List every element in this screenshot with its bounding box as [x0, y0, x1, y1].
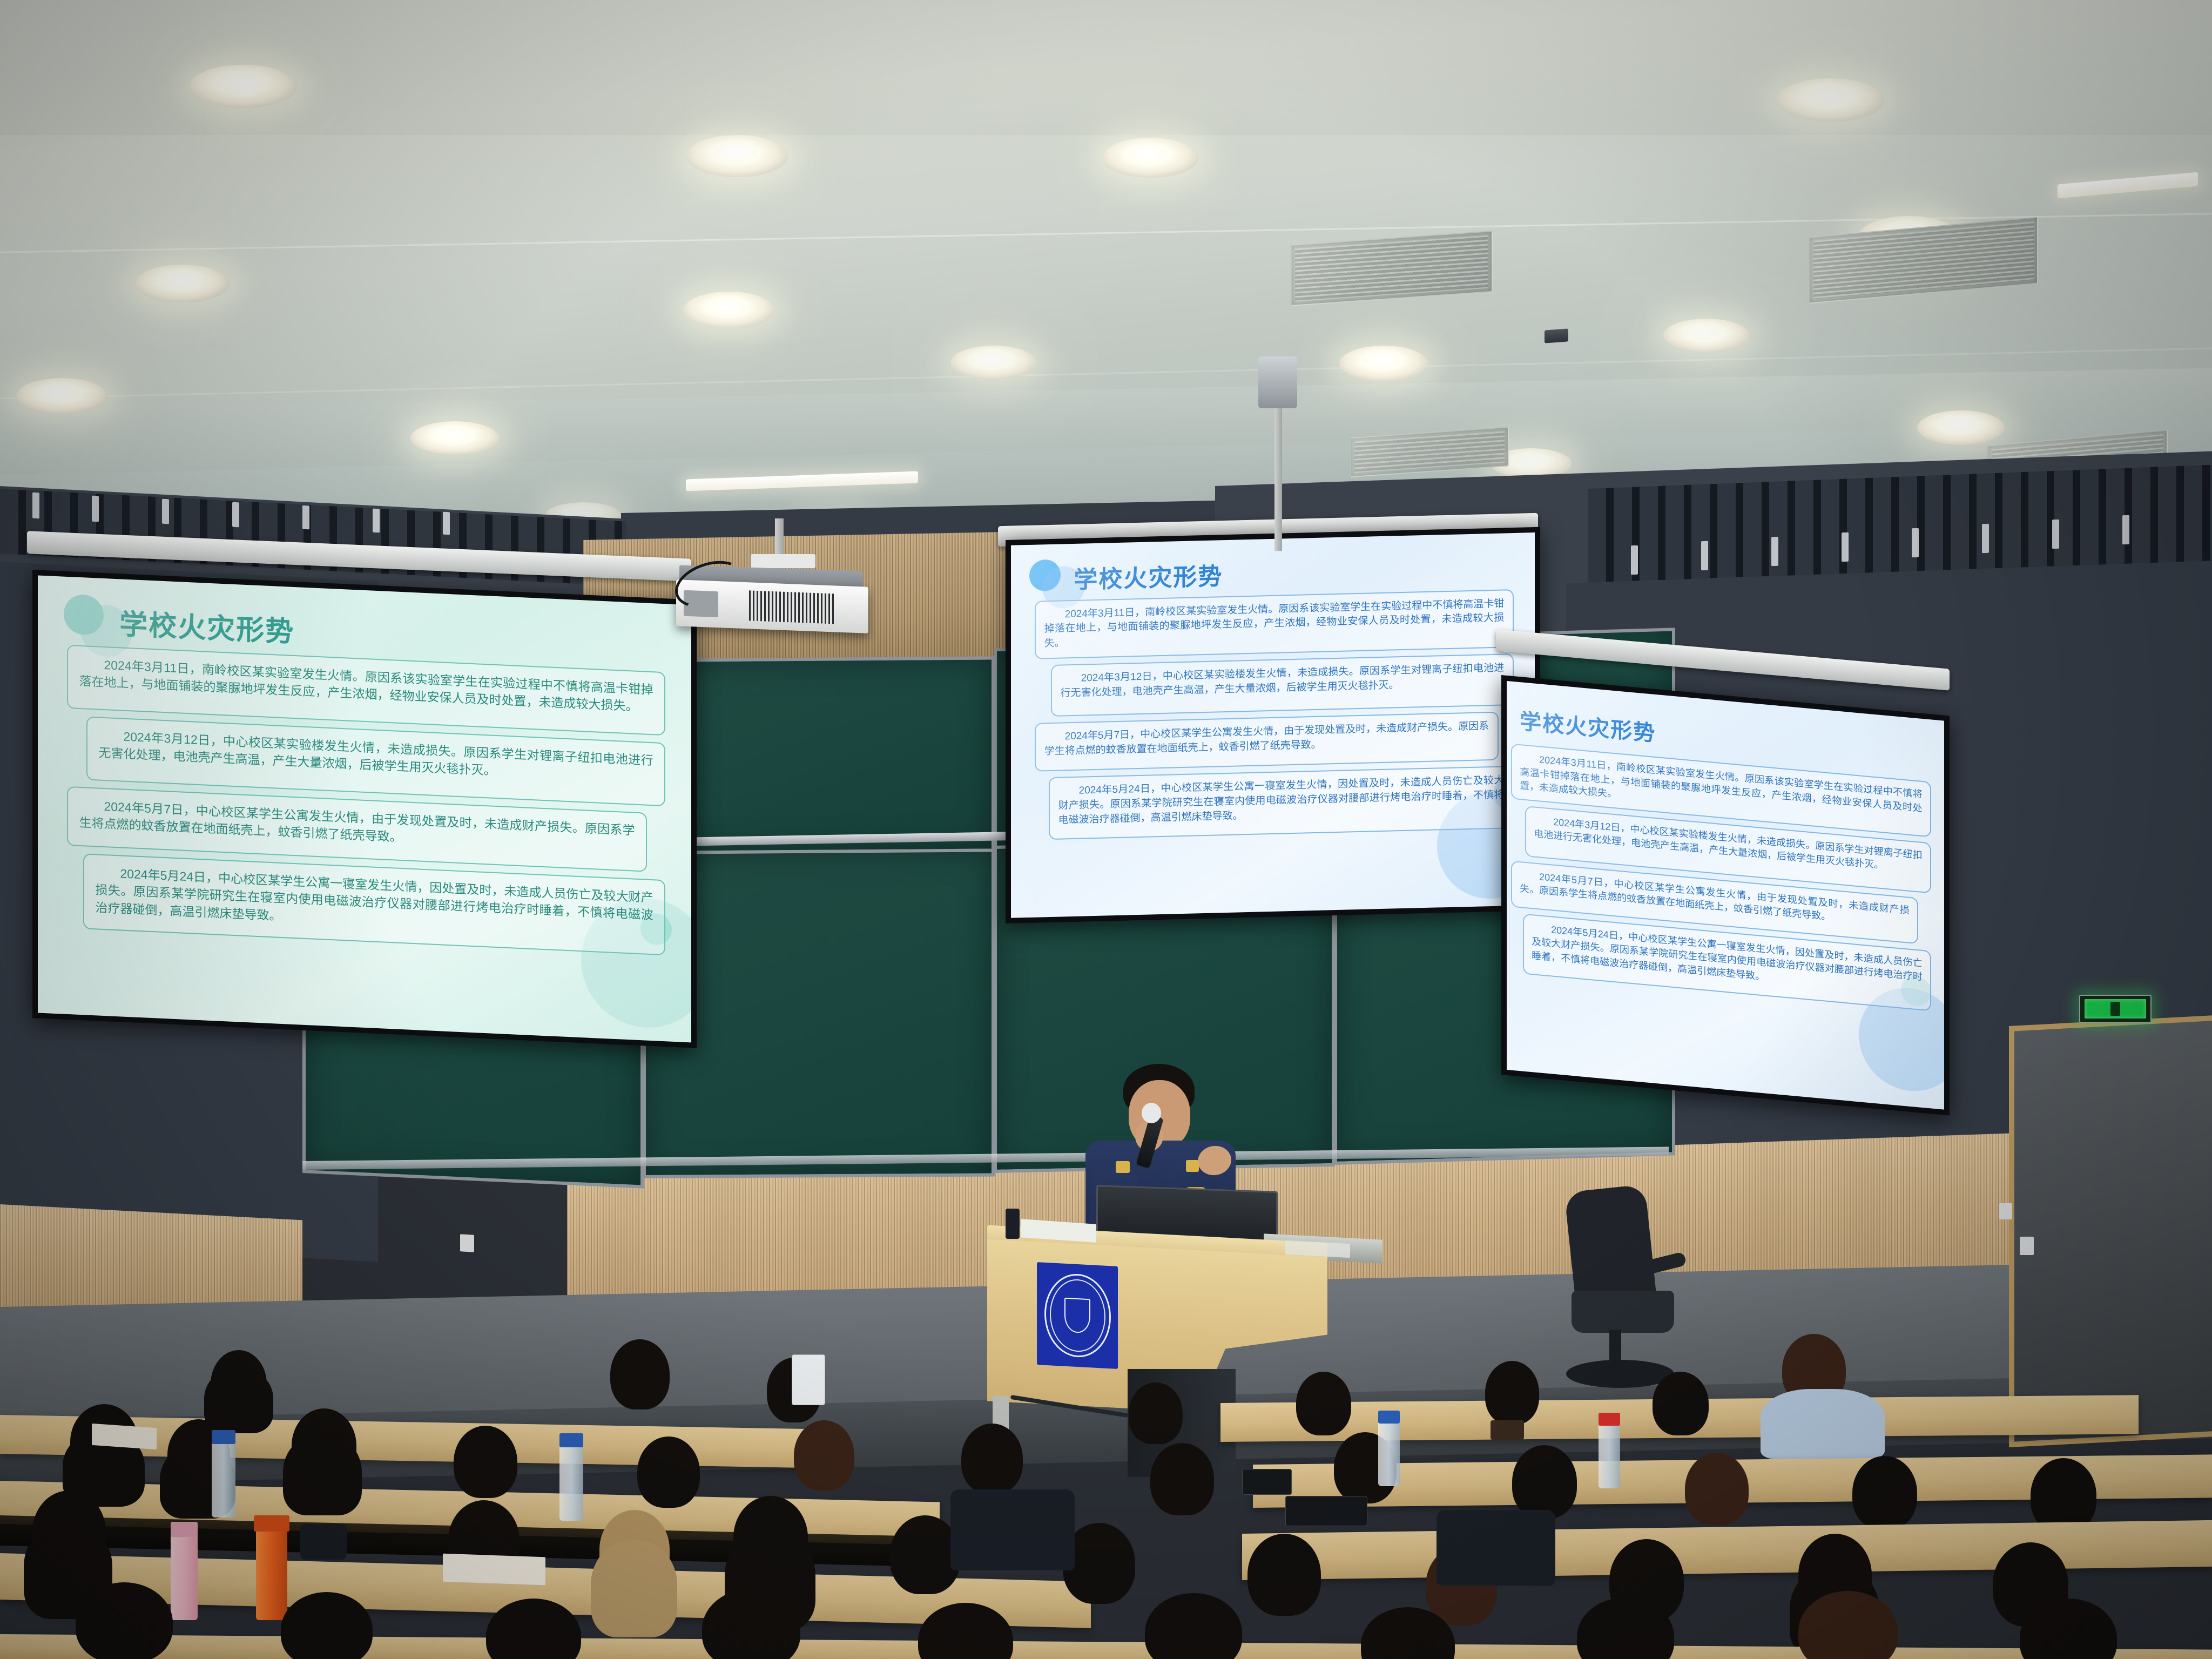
- projector-mount-bracket: [751, 554, 815, 568]
- ceiling-downlight: [135, 265, 230, 302]
- ceiling-downlight: [189, 65, 297, 108]
- bottle-cap: [559, 1433, 583, 1447]
- slat-clip: [1631, 545, 1638, 575]
- ceiling-downlight: [686, 135, 788, 177]
- slide-paragraph-text: 2024年5月7日，中心校区某学生公寓发生火情，由于发现处置及时，未造成财产损失…: [1044, 720, 1489, 760]
- water-bottle[interactable]: [1599, 1418, 1620, 1488]
- audience-head: [890, 1515, 960, 1594]
- bottle-cap: [171, 1522, 198, 1537]
- screen-border: 学校火灾形势 2024年3月11日，南岭校区某实验室发生火情。原因系该实验室学生…: [1501, 675, 1950, 1116]
- exit-sign-face: [2085, 999, 2146, 1019]
- notebook-on-desk: [443, 1554, 545, 1586]
- exit-door[interactable]: [2009, 1015, 2212, 1447]
- slide-paragraph-box: 2024年5月24日，中心校区某学生公寓一寝室发生火情，因处置及时，未造成人员伤…: [1049, 766, 1514, 840]
- slide-right: 学校火灾形势 2024年3月11日，南岭校区某实验室发生火情。原因系该实验室学生…: [1507, 681, 1944, 1110]
- smartphone-raised[interactable]: [792, 1354, 825, 1405]
- slat-clip: [1912, 528, 1919, 557]
- slide-paragraph-text: 2024年3月11日，南岭校区某实验室发生火情。原因系该实验室学生在实验过程中不…: [79, 655, 653, 716]
- pink-water-bottle[interactable]: [171, 1528, 198, 1620]
- bottle-cap: [1599, 1413, 1620, 1426]
- slat-clip: [302, 505, 309, 530]
- slide-paragraph-text: 2024年3月11日，南岭校区某实验室发生火情。原因系该实验室学生在实验过程中不…: [1044, 597, 1505, 652]
- presenter-shoulder-insignia: [1186, 1160, 1199, 1172]
- notebook-on-desk: [92, 1424, 157, 1449]
- screen-border: 学校火灾形势 2024年3月11日，南岭校区某实验室发生火情。原因系该实验室学生…: [1006, 527, 1540, 923]
- slat-clip: [1701, 541, 1708, 570]
- orange-water-bottle[interactable]: [256, 1523, 287, 1620]
- ceiling-downlight: [1917, 410, 2005, 445]
- audience-head: [1247, 1534, 1321, 1616]
- audience-head: [637, 1437, 700, 1508]
- slide-title: 学校火灾形势: [119, 601, 294, 650]
- ceiling-downlight: [683, 292, 775, 328]
- slat-clip: [373, 509, 380, 533]
- slat-clip: [1771, 537, 1778, 566]
- audience-hair: [283, 1434, 362, 1515]
- bottle-cap: [1378, 1411, 1400, 1424]
- slide-paragraph-box: 2024年3月11日，南岭校区某实验室发生火情。原因系该实验室学生在实验过程中不…: [1035, 589, 1514, 659]
- backpack: [300, 1524, 347, 1560]
- ceiling-downlight: [1102, 138, 1199, 178]
- smartphone[interactable]: [1242, 1469, 1292, 1495]
- slat-clip: [92, 496, 99, 522]
- ceiling-downlight: [1339, 346, 1428, 381]
- audience-head: [1485, 1361, 1539, 1425]
- lecture-hall-photo: 学校火灾形势 2024年3月11日，南岭校区某实验室发生火情。原因系该实验室学生…: [0, 0, 2212, 1659]
- seal-shield-icon: [1064, 1298, 1090, 1333]
- ceiling-downlight: [1777, 78, 1885, 122]
- university-seal: [1044, 1272, 1111, 1359]
- pencil-case: [1491, 1420, 1524, 1440]
- screen-border: 学校火灾形势 2024年3月11日，南岭校区某实验室发生火情。原因系该实验室学生…: [32, 570, 697, 1048]
- office-chair[interactable]: [1555, 1188, 1717, 1377]
- audience-head: [1685, 1453, 1749, 1525]
- wall-switch-plate[interactable]: [460, 1234, 474, 1252]
- wall-switch-plate[interactable]: [2020, 1237, 2034, 1255]
- audience-head: [76, 1582, 173, 1659]
- audience-head: [1145, 1593, 1242, 1659]
- audience-head: [1512, 1445, 1577, 1519]
- slide-paragraph-text: 2024年5月7日，中心校区某学生公寓发生火情，由于发现处置及时，未造成财产损失…: [79, 796, 635, 857]
- slat-clip: [1842, 532, 1849, 562]
- presenter-shoulder-insignia: [1116, 1161, 1130, 1173]
- slide-paragraph-text: 2024年5月24日，中心校区某学生公寓一寝室发生火情，因处置及时，未造成人员伤…: [1058, 774, 1505, 828]
- audience-head: [1296, 1372, 1351, 1435]
- bottle-cap: [254, 1515, 289, 1532]
- audience-head: [961, 1424, 1023, 1494]
- slat-clip: [443, 512, 450, 535]
- backpack: [1437, 1510, 1555, 1586]
- tablet[interactable]: [1285, 1496, 1367, 1526]
- slat-clip: [2122, 515, 2129, 544]
- audience-head: [1653, 1372, 1709, 1435]
- audience-head: [1129, 1382, 1183, 1444]
- camera-housing: [1258, 356, 1297, 408]
- ceiling-downlight: [410, 421, 500, 455]
- ceiling-speaker: [1545, 328, 1568, 343]
- ceiling-band-upper: [0, 0, 2212, 135]
- projection-screen-left: 学校火灾形势 2024年3月11日，南岭校区某实验室发生火情。原因系该实验室学生…: [32, 570, 686, 1007]
- university-seal-plaque[interactable]: [1037, 1262, 1118, 1369]
- audience-shoulders: [1761, 1389, 1885, 1459]
- audience-head: [454, 1426, 517, 1498]
- wall-outlet-plate[interactable]: [1999, 1203, 2012, 1219]
- slide-paragraph-text: 2024年3月12日，中心校区某实验楼发生火情，未造成损失。原因系学生对锂离子纽…: [1061, 662, 1505, 702]
- slat-clip: [232, 502, 239, 528]
- audience-head: [794, 1420, 854, 1491]
- water-bottle[interactable]: [559, 1440, 583, 1521]
- water-bottle[interactable]: [212, 1437, 235, 1518]
- backpack: [950, 1489, 1075, 1570]
- chair-seat: [1572, 1291, 1674, 1333]
- slide-title: 学校火灾形势: [1074, 557, 1223, 595]
- projection-screen-center: 学校火灾形势 2024年3月11日，南岭校区某实验室发生火情。原因系该实验室学生…: [1006, 540, 1529, 913]
- audience-head: [1852, 1456, 1917, 1529]
- ceiling-downlight: [1663, 319, 1750, 352]
- slide-left: 学校火灾形势 2024年3月11日，南岭校区某实验室发生火情。原因系该实验室学生…: [38, 575, 691, 1042]
- slide-paragraph-text: 2024年3月12日，中心校区某实验楼发生火情，未造成损失。原因系学生对锂离子纽…: [98, 726, 653, 787]
- slat-clip: [1982, 524, 1989, 553]
- bottle-cap: [212, 1430, 235, 1444]
- slat-clip: [2052, 520, 2059, 549]
- projector-vent-grille: [749, 591, 834, 624]
- water-bottle[interactable]: [1378, 1416, 1400, 1486]
- audience-head: [1150, 1443, 1214, 1515]
- slat-clip: [32, 493, 39, 519]
- desk-microphone-stand: [1006, 1209, 1020, 1239]
- exit-sign: [2079, 995, 2152, 1023]
- ceiling-downlight: [16, 378, 108, 414]
- audience-head: [610, 1339, 670, 1410]
- projection-screen-right: 学校火灾形势 2024年3月11日，南岭校区某实验室发生火情。原因系该实验室学生…: [1501, 675, 1939, 1064]
- slide-center: 学校火灾形势 2024年3月11日，南岭校区某实验室发生火情。原因系该实验室学生…: [1011, 532, 1535, 918]
- slide-paragraph-box: 2024年3月12日，中心校区某实验楼发生火情，未造成损失。原因系学生对锂离子纽…: [1051, 653, 1514, 717]
- running-man-icon: [2110, 1002, 2120, 1016]
- slide-paragraph-box: 2024年5月7日，中心校区某学生公寓发生火情，由于发现处置及时，未造成财产损失…: [1035, 712, 1499, 772]
- audience-hair: [591, 1540, 677, 1637]
- ceiling-downlight: [950, 346, 1037, 379]
- slat-clip: [162, 499, 169, 524]
- slide-title: 学校火灾形势: [1520, 704, 1656, 747]
- slide-paragraph-text: 2024年5月24日，中心校区某学生公寓一寝室发生火情，因处置及时，未造成人员伤…: [95, 864, 653, 942]
- microphone-head: [1142, 1103, 1161, 1123]
